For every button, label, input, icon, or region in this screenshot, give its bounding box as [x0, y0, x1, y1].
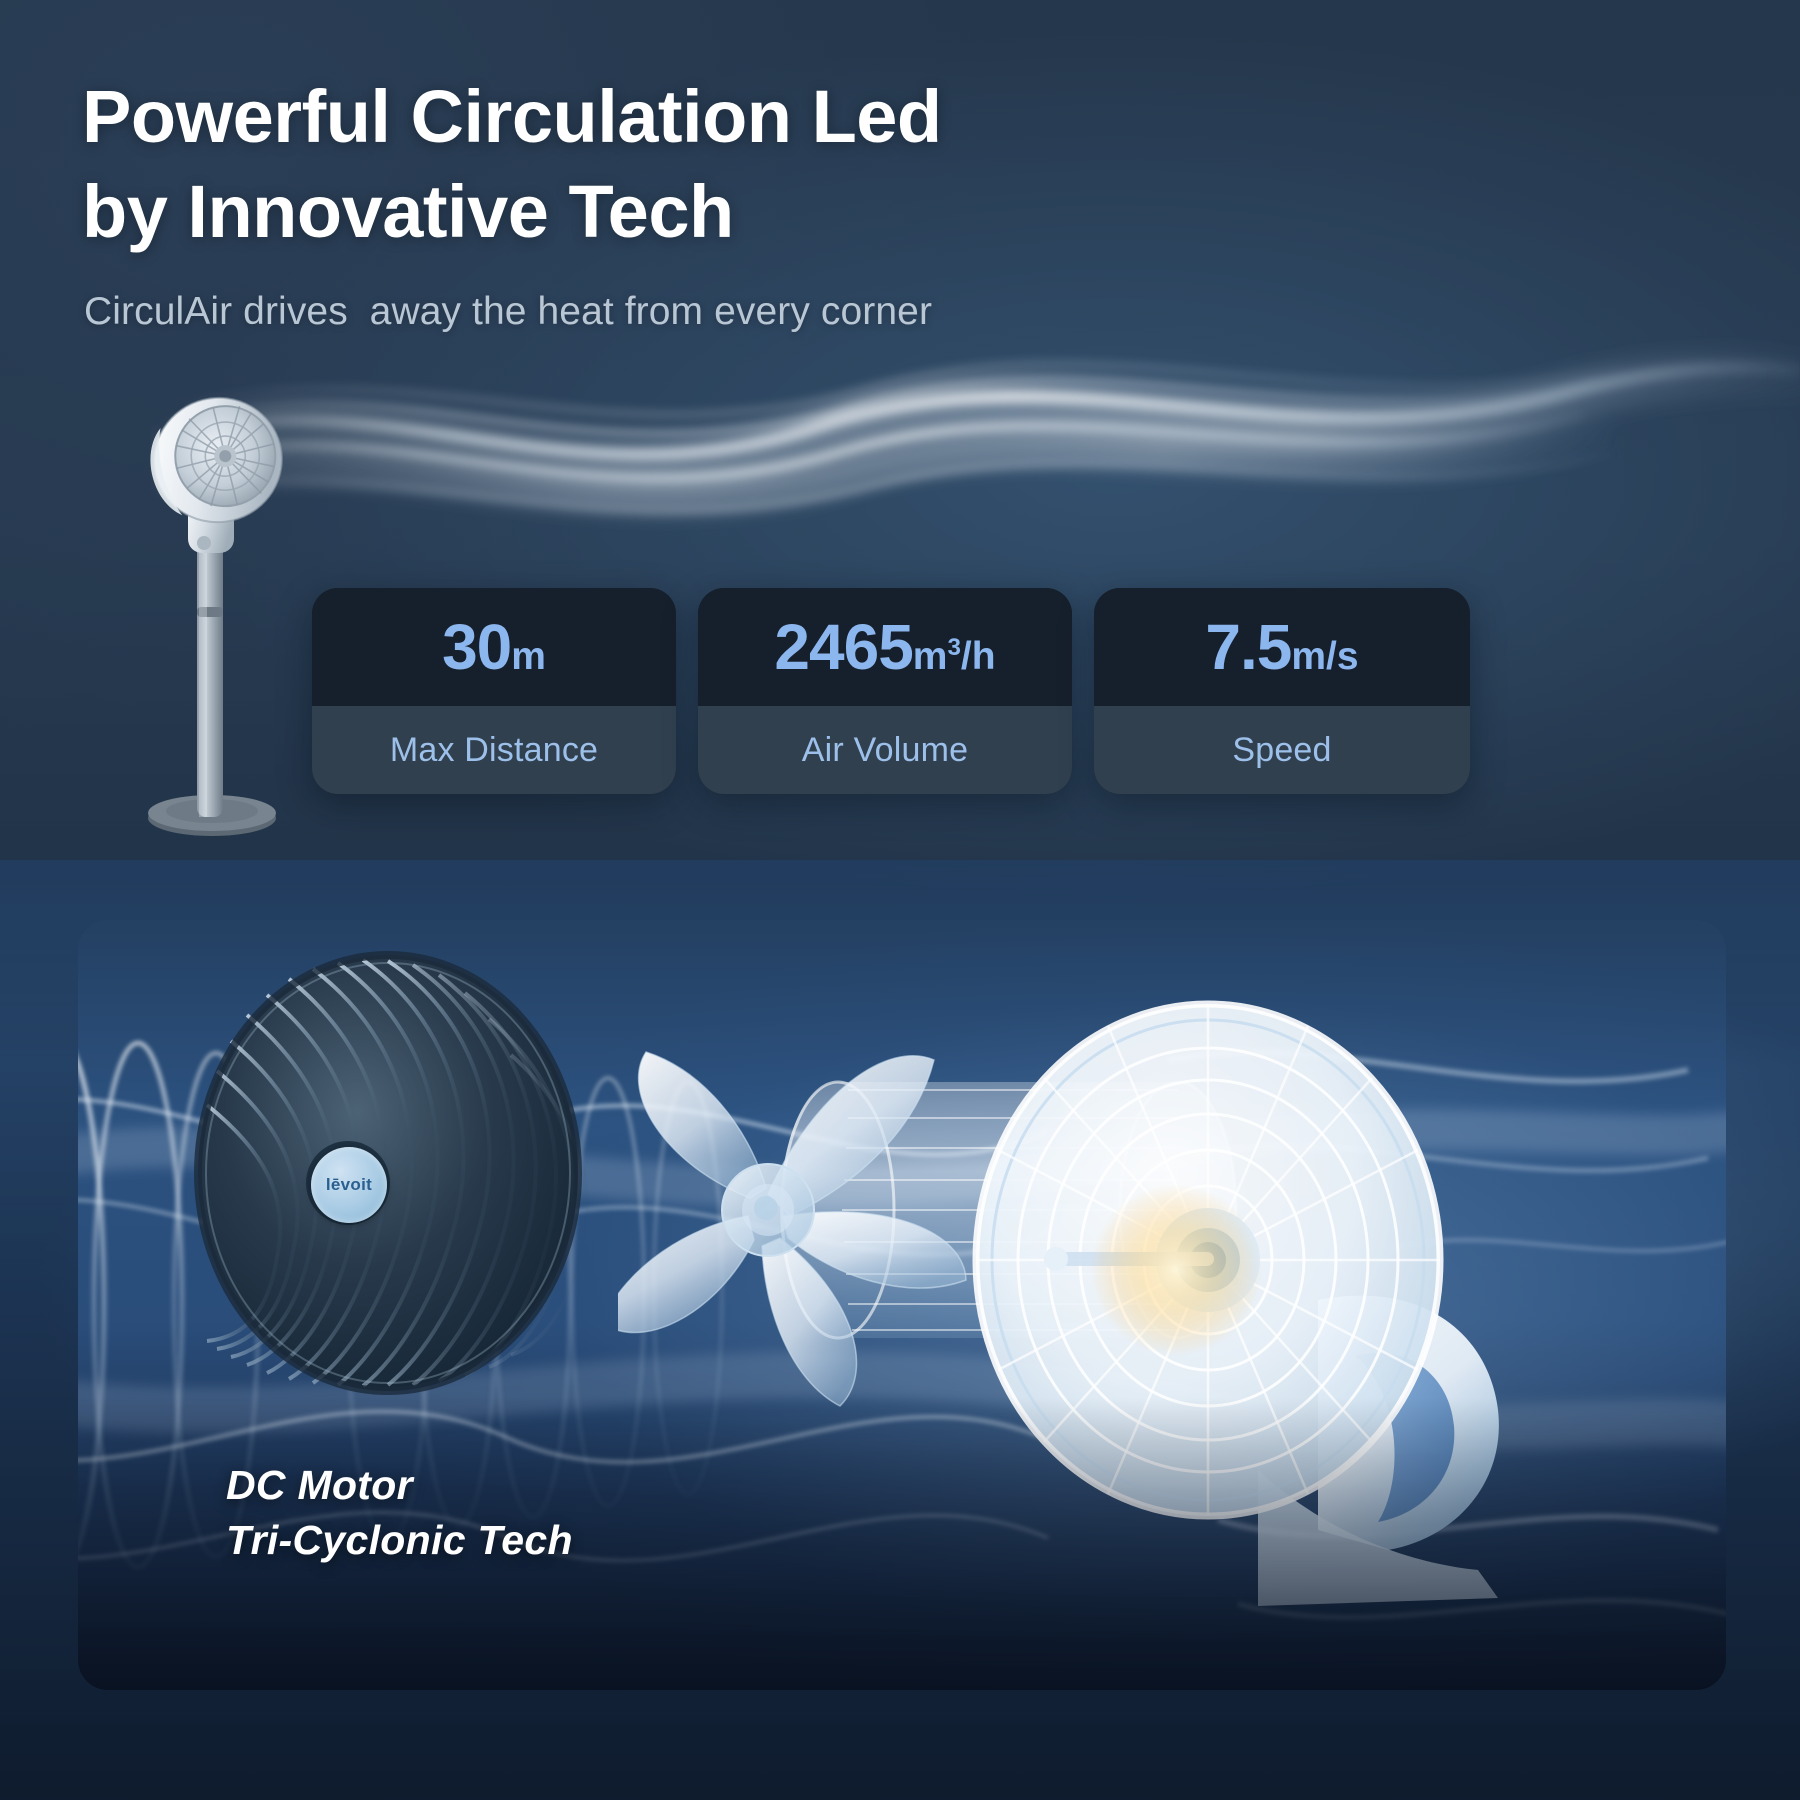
caption-line-2: Tri-Cyclonic Tech: [226, 1513, 573, 1568]
stat-unit-tail: /h: [961, 635, 996, 678]
stat-unit: m: [511, 637, 546, 676]
fan-housing-white: [958, 970, 1578, 1610]
stat-label-wrap: Speed: [1094, 706, 1470, 794]
stat-label: Max Distance: [390, 731, 598, 770]
stat-number: 7.5: [1205, 615, 1291, 679]
brand-logo-badge: lēvoit: [311, 1147, 387, 1223]
caption-line-1: DC Motor: [226, 1458, 573, 1513]
headline-line-2: by Innovative Tech: [82, 165, 1262, 260]
stat-card-max-distance: 30m Max Distance: [312, 588, 676, 794]
stat-label-wrap: Air Volume: [698, 706, 1072, 794]
product-feature-banner: 30m Max Distance 2465m3/h Air Volume 7.5…: [0, 0, 1800, 1800]
stat-unit: m3/h: [913, 637, 996, 676]
stat-value: 7.5m/s: [1205, 615, 1358, 679]
standing-fan-icon: [100, 355, 330, 855]
panel-caption: DC Motor Tri-Cyclonic Tech: [226, 1458, 573, 1568]
stat-value: 30m: [442, 615, 546, 679]
brand-logo-text: lēvoit: [326, 1175, 372, 1195]
stat-card-row: 30m Max Distance 2465m3/h Air Volume 7.5…: [312, 588, 1502, 794]
stat-label: Air Volume: [802, 731, 968, 770]
stat-value-wrap: 2465m3/h: [698, 588, 1072, 706]
stat-value: 2465m3/h: [774, 615, 995, 679]
stat-unit-base: m: [913, 635, 948, 678]
stat-value-wrap: 7.5m/s: [1094, 588, 1470, 706]
exploded-view-panel: lēvoit: [78, 920, 1726, 1690]
stat-unit-exponent: 3: [947, 634, 960, 661]
stat-number: 30: [442, 615, 511, 679]
stat-label-wrap: Max Distance: [312, 706, 676, 794]
stat-card-speed: 7.5m/s Speed: [1094, 588, 1470, 794]
stat-value-wrap: 30m: [312, 588, 676, 706]
stat-number: 2465: [774, 615, 912, 679]
stat-unit: m/s: [1291, 637, 1358, 676]
fan-grille-dark: lēvoit: [183, 945, 603, 1395]
headline-line-1: Powerful Circulation Led: [82, 75, 942, 158]
stat-label: Speed: [1232, 731, 1331, 770]
stat-card-air-volume: 2465m3/h Air Volume: [698, 588, 1072, 794]
page-title: Powerful Circulation Led by Innovative T…: [82, 70, 1262, 259]
page-subtitle: CirculAir drives away the heat from ever…: [84, 290, 932, 334]
